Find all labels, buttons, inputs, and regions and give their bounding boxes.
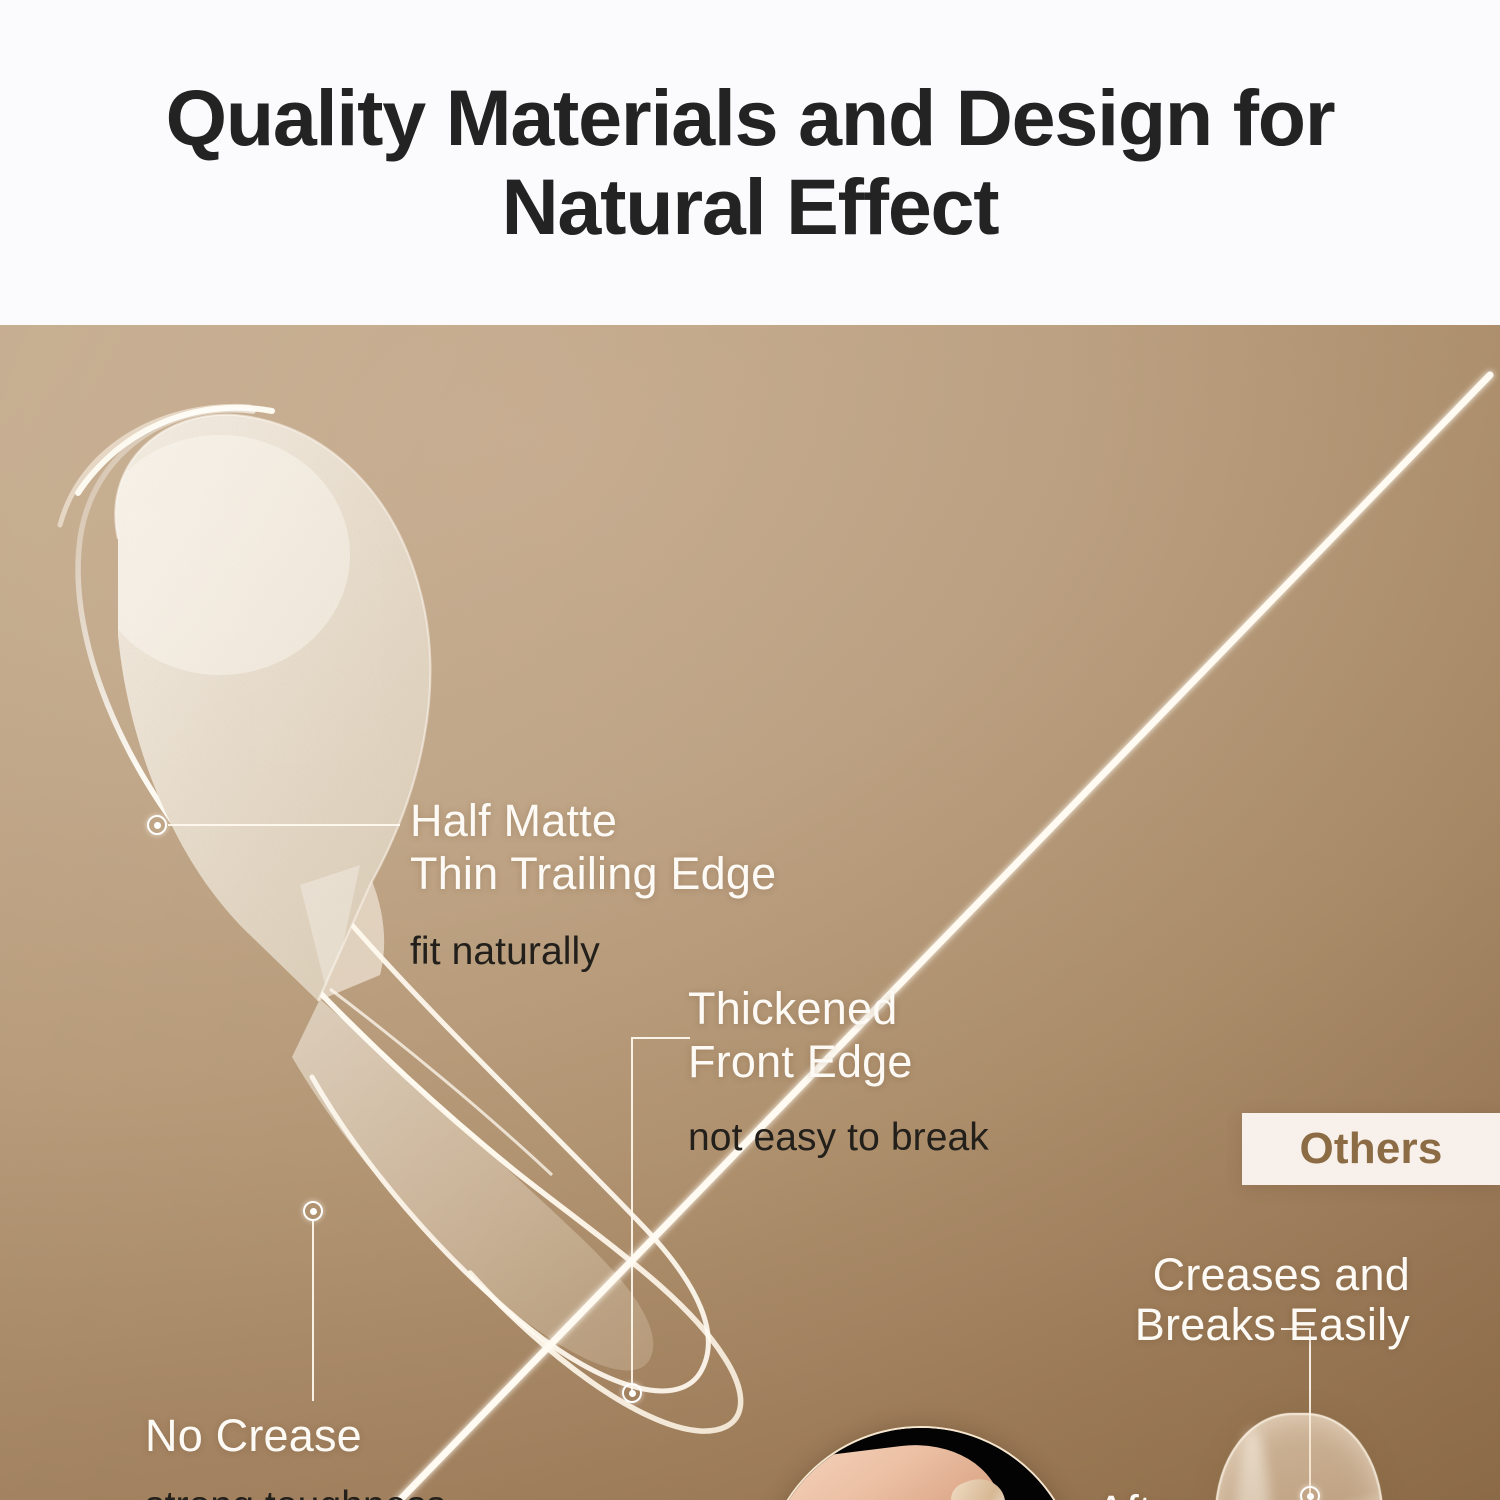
product-comparison-panel: Half Matte Thin Trailing Edge fit natura…	[0, 325, 1500, 1500]
fingernail-top	[946, 1472, 1011, 1500]
callout-subtitle-no-crease: strong toughness	[145, 1483, 446, 1500]
callout-title-half-matte: Half Matte Thin Trailing Edge	[410, 795, 880, 900]
header-band: Quality Materials and Design for Natural…	[0, 0, 1500, 325]
callout-title-creases: Creases and Breaks Easily	[1010, 1250, 1410, 1349]
trailing-facet	[318, 881, 384, 1001]
photo-scene	[764, 1428, 1078, 1500]
trailing-edge-ribbon	[292, 989, 653, 1370]
brand-badge-others: Others	[1242, 1113, 1500, 1185]
callout-subtitle-front-edge: not easy to break	[688, 1115, 989, 1162]
callout-title-no-crease: No Crease	[145, 1410, 565, 1463]
callout-leaders-left	[168, 825, 690, 1401]
callout-dot-half-matte	[147, 815, 167, 835]
finger-top	[762, 1435, 1009, 1500]
callout-dot-creases	[1300, 1486, 1320, 1500]
others-badge-label: Others	[1299, 1124, 1442, 1174]
callout-title-front-edge: Thickened Front Edge	[688, 983, 1048, 1088]
bend-demo-photo	[762, 1426, 1080, 1500]
callout-title-after-bend: After Bend	[1096, 1487, 1246, 1500]
callout-dot-no-crease	[303, 1201, 323, 1221]
callout-dot-front-edge	[622, 1383, 642, 1403]
nail-profile-outline	[78, 410, 741, 1431]
page-title: Quality Materials and Design for Natural…	[110, 74, 1390, 251]
callout-subtitle-half-matte: fit naturally	[410, 929, 600, 976]
glow-arc-outer	[60, 406, 272, 525]
infographic-canvas: Quality Materials and Design for Natural…	[0, 0, 1500, 1500]
